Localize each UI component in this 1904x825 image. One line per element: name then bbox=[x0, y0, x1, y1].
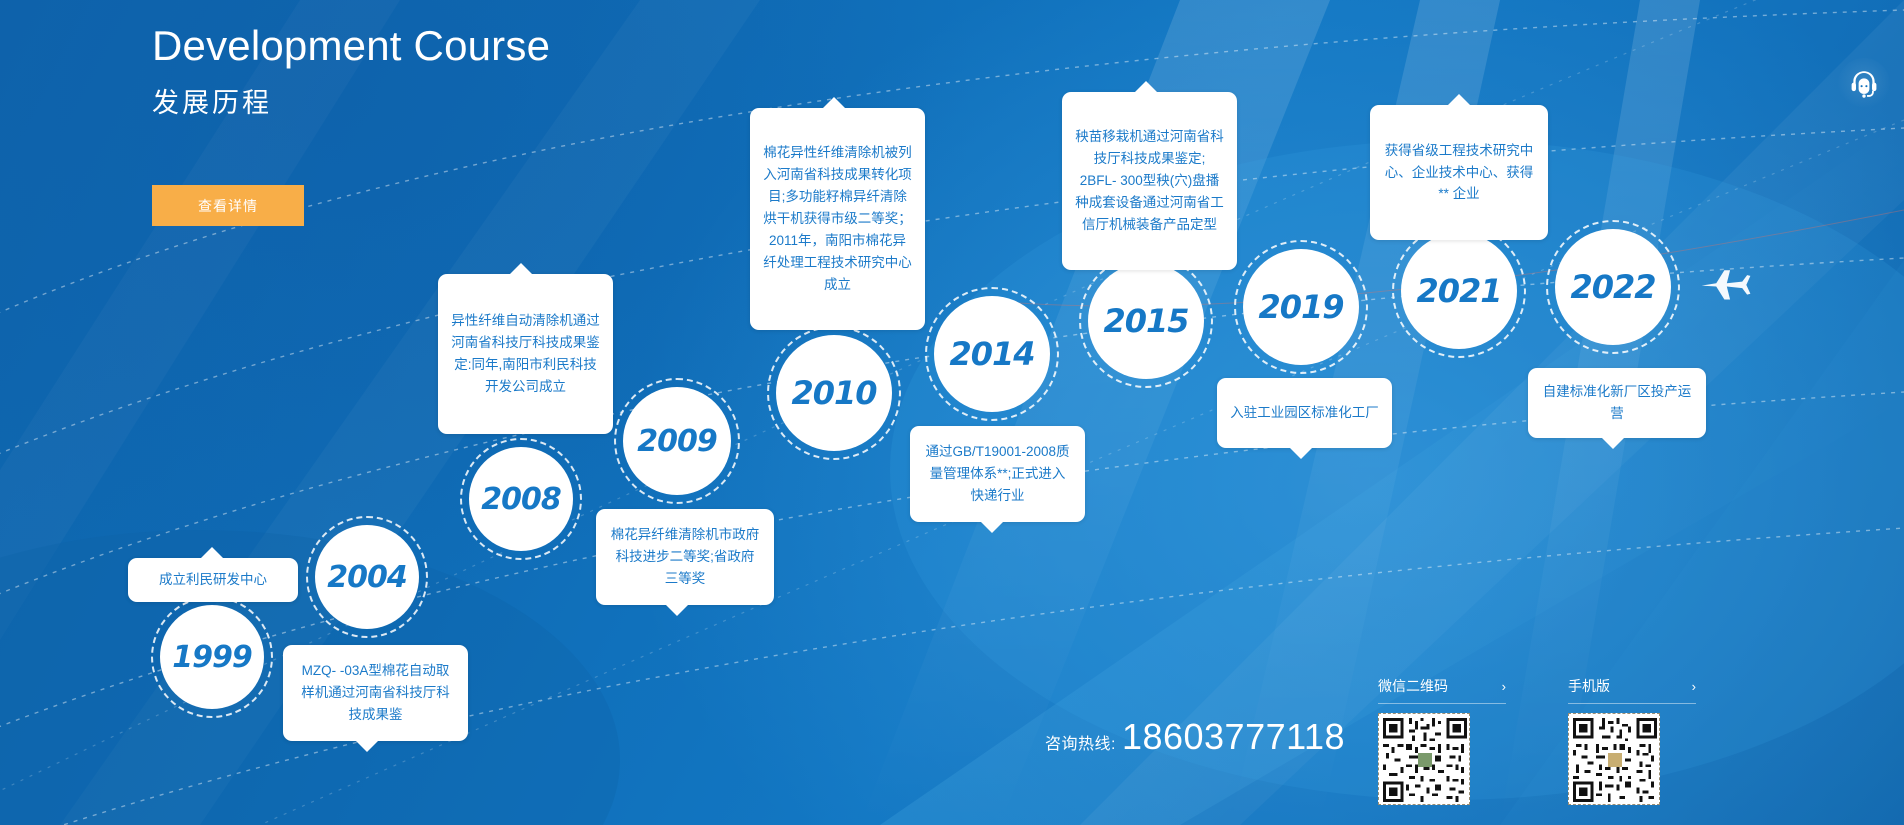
timeline-year-circle-2014[interactable]: 2014 bbox=[934, 296, 1050, 412]
timeline-year-circle-1999[interactable]: 1999 bbox=[160, 605, 264, 709]
timeline-year-label: 2010 bbox=[791, 374, 876, 412]
chevron-right-icon: › bbox=[1692, 679, 1696, 694]
headset-support-glyph bbox=[1847, 67, 1881, 101]
timeline-year-circle-2008[interactable]: 2008 bbox=[469, 447, 573, 551]
timeline-card-pointer bbox=[356, 741, 378, 752]
timeline-year-circle-2015[interactable]: 2015 bbox=[1088, 263, 1204, 379]
qr-mobile-label: 手机版 bbox=[1568, 676, 1610, 696]
timeline-card-2010[interactable]: 棉花异性纤维清除机被列入河南省科技成果转化项目;多功能籽棉异纤清除烘干机获得市级… bbox=[750, 108, 925, 330]
timeline-year-label: 2019 bbox=[1258, 288, 1343, 326]
timeline-year-circle-2021[interactable]: 2021 bbox=[1401, 233, 1517, 349]
timeline-year-label: 2009 bbox=[637, 424, 717, 459]
timeline-year-circle-2019[interactable]: 2019 bbox=[1243, 249, 1359, 365]
timeline-card-pointer bbox=[201, 547, 223, 558]
timeline-card-text: 获得省级工程技术研究中心、企业技术中心、获得** 企业 bbox=[1383, 140, 1535, 206]
chevron-right-icon: › bbox=[1502, 679, 1506, 694]
timeline-year-circle-2009[interactable]: 2009 bbox=[623, 387, 731, 495]
timeline-card-pointer bbox=[510, 263, 532, 274]
timeline-year-label: 2022 bbox=[1570, 268, 1655, 306]
qr-wechat-image bbox=[1378, 713, 1470, 805]
timeline-year-label: 2014 bbox=[949, 335, 1034, 373]
timeline-card-2008[interactable]: 异性纤维自动清除机通过河南省科技厅科技成果鉴定:同年,南阳市利民科技开发公司成立 bbox=[438, 274, 613, 434]
timeline-card-text: MZQ- -03A型棉花自动取样机通过河南省科技厅科技成果鉴 bbox=[296, 660, 455, 726]
timeline-card-pointer bbox=[1602, 438, 1624, 449]
qr-code-glyph bbox=[1383, 718, 1467, 802]
timeline-card-text: 秧苗移栽机通过河南省科技厅科技成果鉴定; 2BFL- 300型秧(穴)盘播种成套… bbox=[1075, 126, 1224, 235]
page-title-cn: 发展历程 bbox=[152, 81, 550, 120]
page-header: Development Course 发展历程 bbox=[152, 22, 550, 120]
timeline-year-label: 2021 bbox=[1416, 272, 1501, 310]
timeline-year-circle-2004[interactable]: 2004 bbox=[315, 525, 419, 629]
qr-wechat-label: 微信二维码 bbox=[1378, 676, 1448, 696]
timeline-card-text: 棉花异纤维清除机市政府科技进步二等奖;省政府三等奖 bbox=[609, 524, 761, 590]
airplane-icon bbox=[1700, 265, 1752, 308]
timeline-year-label: 2008 bbox=[481, 482, 561, 517]
timeline-card-2019[interactable]: 入驻工业园区标准化工厂 bbox=[1217, 378, 1392, 448]
qr-mobile-image bbox=[1568, 713, 1660, 805]
timeline-card-text: 入驻工业园区标准化工厂 bbox=[1230, 402, 1379, 424]
qr-wechat[interactable]: 微信二维码 › bbox=[1378, 676, 1506, 805]
timeline-card-text: 自建标准化新厂区投产运营 bbox=[1541, 381, 1693, 425]
timeline-card-pointer bbox=[1135, 81, 1157, 92]
timeline-card-pointer bbox=[981, 522, 1003, 533]
view-detail-button[interactable]: 查看详情 bbox=[152, 185, 304, 226]
timeline-card-pointer bbox=[1290, 448, 1312, 459]
qr-wechat-title-row[interactable]: 微信二维码 › bbox=[1378, 676, 1506, 704]
timeline-card-text: 棉花异性纤维清除机被列入河南省科技成果转化项目;多功能籽棉异纤清除烘干机获得市级… bbox=[763, 142, 912, 295]
timeline-card-2021[interactable]: 获得省级工程技术研究中心、企业技术中心、获得** 企业 bbox=[1370, 105, 1548, 240]
timeline-card-2022[interactable]: 自建标准化新厂区投产运营 bbox=[1528, 368, 1706, 438]
hotline-number: 18603777118 bbox=[1122, 716, 1345, 758]
timeline-card-text: 成立利民研发中心 bbox=[159, 569, 267, 591]
timeline-card-2015[interactable]: 秧苗移栽机通过河南省科技厅科技成果鉴定; 2BFL- 300型秧(穴)盘播种成套… bbox=[1062, 92, 1237, 270]
qr-mobile-title-row[interactable]: 手机版 › bbox=[1568, 676, 1696, 704]
timeline-year-label: 2004 bbox=[327, 560, 407, 595]
timeline-card-pointer bbox=[666, 605, 688, 616]
page-background: Development Course 发展历程 查看详情 1999成立利民研发中… bbox=[0, 0, 1904, 825]
hotline-label: 咨询热线: bbox=[1045, 730, 1116, 754]
page-title-en: Development Course bbox=[152, 22, 550, 70]
timeline-card-2004[interactable]: MZQ- -03A型棉花自动取样机通过河南省科技厅科技成果鉴 bbox=[283, 645, 468, 741]
timeline-card-text: 异性纤维自动清除机通过河南省科技厅科技成果鉴定:同年,南阳市利民科技开发公司成立 bbox=[451, 310, 600, 397]
timeline-year-circle-2010[interactable]: 2010 bbox=[776, 335, 892, 451]
timeline-card-2014[interactable]: 通过GB/T19001-2008质量管理体系**;正式进入快递行业 bbox=[910, 426, 1085, 522]
qr-mobile[interactable]: 手机版 › bbox=[1568, 676, 1696, 805]
qr-code-glyph bbox=[1573, 718, 1657, 802]
hotline: 咨询热线: 18603777118 bbox=[1045, 716, 1345, 758]
timeline-card-1999[interactable]: 成立利民研发中心 bbox=[128, 558, 298, 602]
headset-support-icon[interactable] bbox=[1838, 58, 1890, 110]
timeline-year-label: 1999 bbox=[172, 640, 252, 675]
timeline-year-label: 2015 bbox=[1103, 302, 1188, 340]
timeline-card-pointer bbox=[1448, 94, 1470, 105]
timeline-card-pointer bbox=[823, 97, 845, 108]
timeline-card-2009[interactable]: 棉花异纤维清除机市政府科技进步二等奖;省政府三等奖 bbox=[596, 509, 774, 605]
timeline-card-text: 通过GB/T19001-2008质量管理体系**;正式进入快递行业 bbox=[923, 441, 1072, 507]
timeline-year-circle-2022[interactable]: 2022 bbox=[1555, 229, 1671, 345]
